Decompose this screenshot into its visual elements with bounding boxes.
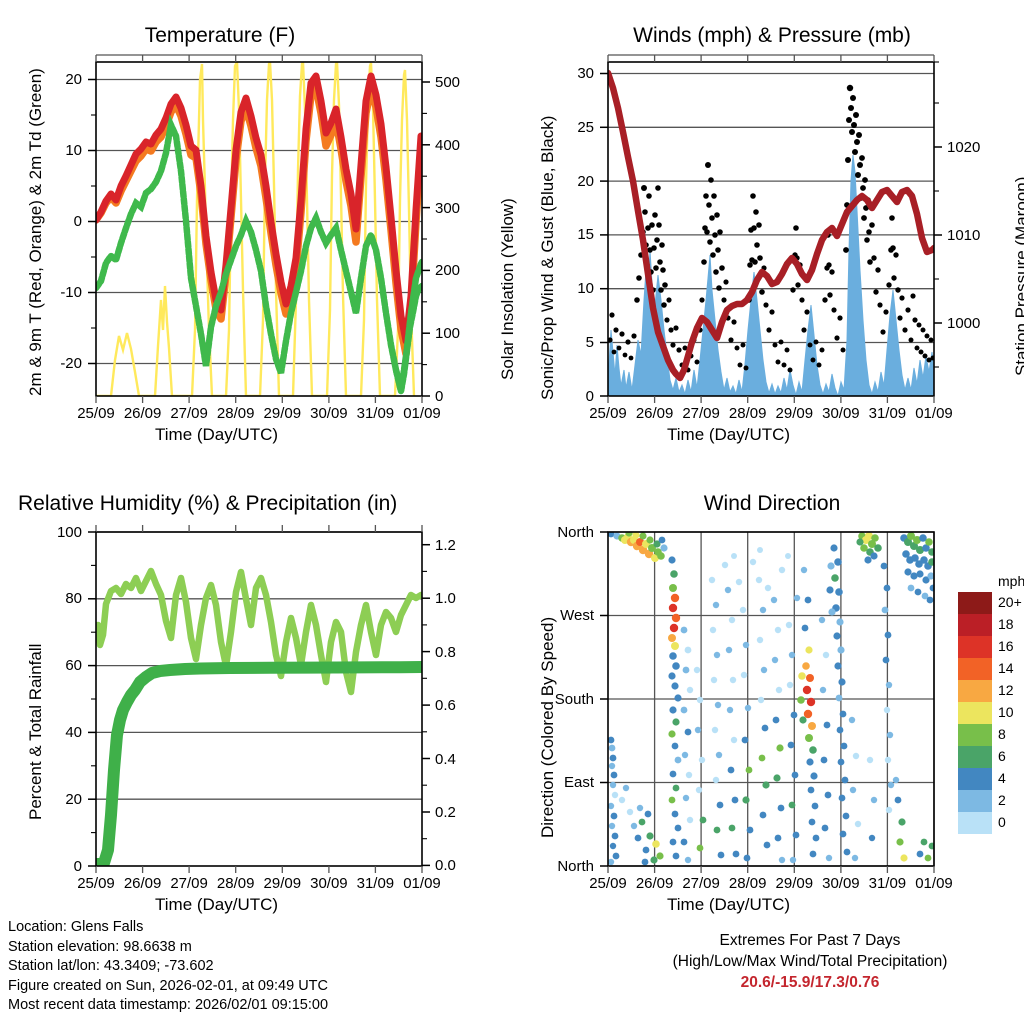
wind-direction-xtick: 01/09 bbox=[908, 875, 960, 892]
temperature-ytick-left: 0 bbox=[38, 213, 82, 230]
temperature-y-axis-left-label: 2m & 9m T (Red, Orange) & 2m Td (Green) bbox=[26, 68, 46, 396]
winds-ytick-right: 1010 bbox=[947, 227, 980, 244]
humidity-ytick-right: 1.2 bbox=[435, 537, 456, 554]
footer-latlon: Station lat/lon: 43.3409; -73.602 bbox=[8, 957, 328, 977]
winds-xtick: 31/09 bbox=[861, 405, 913, 422]
temperature-ytick-right: 400 bbox=[435, 137, 460, 154]
temperature-xtick: 25/09 bbox=[70, 405, 122, 422]
wind-direction-xtick: 31/09 bbox=[861, 875, 913, 892]
humidity-ytick-left: 40 bbox=[38, 724, 82, 741]
temperature-ytick-right: 300 bbox=[435, 200, 460, 217]
temperature-x-axis-label: Time (Day/UTC) bbox=[155, 425, 278, 445]
temperature-ytick-left: 10 bbox=[38, 142, 82, 159]
temperature-ytick-left: 20 bbox=[38, 71, 82, 88]
wind-direction-xtick: 28/09 bbox=[722, 875, 774, 892]
colorbar-tick: 0 bbox=[998, 814, 1006, 830]
humidity-x-axis-label: Time (Day/UTC) bbox=[155, 895, 278, 915]
footer-created: Figure created on Sun, 2026-02-01, at 09… bbox=[8, 977, 328, 997]
humidity-panel: Relative Humidity (%) & Precipitation (i… bbox=[0, 470, 512, 940]
humidity-xtick: 31/09 bbox=[349, 875, 401, 892]
winds-ytick-left: 10 bbox=[550, 280, 594, 297]
colorbar-tick: 2 bbox=[998, 792, 1006, 808]
colorbar-tick: 6 bbox=[998, 748, 1006, 764]
humidity-xtick: 29/09 bbox=[256, 875, 308, 892]
wind-direction-ytick: West bbox=[530, 607, 594, 624]
extremes-summary: Extremes For Past 7 Days (High/Low/Max W… bbox=[610, 930, 1010, 993]
winds-ytick-right: 1020 bbox=[947, 139, 980, 156]
humidity-ytick-left: 80 bbox=[38, 590, 82, 607]
winds-x-axis-label: Time (Day/UTC) bbox=[667, 425, 790, 445]
winds-panel: Winds (mph) & Pressure (mb) Sonic/Prop W… bbox=[512, 0, 1024, 460]
winds-xtick: 29/09 bbox=[768, 405, 820, 422]
wind-direction-ytick: North bbox=[530, 858, 594, 875]
wind-direction-y-axis-label: Direction (Colored By Speed) bbox=[538, 617, 558, 838]
footer-recent-timestamp: Most recent data timestamp: 2026/02/01 0… bbox=[8, 996, 328, 1016]
extremes-values: 20.6/-15.9/17.3/0.76 bbox=[610, 972, 1010, 993]
wind-direction-x-axis-label: Time (Day/UTC) bbox=[667, 895, 790, 915]
winds-xtick: 25/09 bbox=[582, 405, 634, 422]
wind-direction-xtick: 29/09 bbox=[768, 875, 820, 892]
colorbar-tick: 8 bbox=[998, 726, 1006, 742]
wind-direction-xtick: 30/09 bbox=[815, 875, 867, 892]
colorbar-tick: 10 bbox=[998, 704, 1014, 720]
colorbar-tick: 20+ bbox=[998, 594, 1022, 610]
humidity-ytick-right: 0.8 bbox=[435, 644, 456, 661]
humidity-xtick: 25/09 bbox=[70, 875, 122, 892]
temperature-xtick: 31/09 bbox=[349, 405, 401, 422]
humidity-ytick-right: 1.0 bbox=[435, 590, 456, 607]
colorbar-tick: 4 bbox=[998, 770, 1006, 786]
winds-ytick-left: 0 bbox=[550, 388, 594, 405]
humidity-xtick: 28/09 bbox=[210, 875, 262, 892]
humidity-xtick: 30/09 bbox=[303, 875, 355, 892]
humidity-xtick: 27/09 bbox=[163, 875, 215, 892]
winds-xtick: 27/09 bbox=[675, 405, 727, 422]
temperature-xtick: 28/09 bbox=[210, 405, 262, 422]
humidity-xtick: 01/09 bbox=[396, 875, 448, 892]
colorbar-tick: 18 bbox=[998, 616, 1014, 632]
temperature-ytick-right: 0 bbox=[435, 388, 443, 405]
station-metadata: Location: Glens Falls Station elevation:… bbox=[8, 918, 328, 1016]
winds-ytick-right: 1000 bbox=[947, 315, 980, 332]
wind-direction-ytick: East bbox=[530, 774, 594, 791]
wind-direction-xtick: 25/09 bbox=[582, 875, 634, 892]
humidity-ytick-left: 60 bbox=[38, 657, 82, 674]
winds-y-axis-right-label: Station Pressure (Maroon) bbox=[1012, 177, 1024, 376]
winds-ytick-left: 25 bbox=[550, 119, 594, 136]
winds-xtick: 26/09 bbox=[629, 405, 681, 422]
humidity-ytick-left: 100 bbox=[38, 524, 82, 541]
footer-elevation: Station elevation: 98.6638 m bbox=[8, 938, 328, 958]
humidity-xtick: 26/09 bbox=[117, 875, 169, 892]
wind-direction-ytick: South bbox=[530, 691, 594, 708]
temperature-xtick: 01/09 bbox=[396, 405, 448, 422]
wind-direction-xtick: 26/09 bbox=[629, 875, 681, 892]
temperature-xtick: 27/09 bbox=[163, 405, 215, 422]
humidity-ytick-right: 0.2 bbox=[435, 804, 456, 821]
footer-location: Location: Glens Falls bbox=[8, 918, 328, 938]
winds-xtick: 01/09 bbox=[908, 405, 960, 422]
wind-direction-panel-title: Wind Direction bbox=[582, 492, 962, 516]
winds-ytick-left: 15 bbox=[550, 226, 594, 243]
humidity-ytick-right: 0.6 bbox=[435, 697, 456, 714]
temperature-xtick: 30/09 bbox=[303, 405, 355, 422]
humidity-ytick-right: 0.0 bbox=[435, 857, 456, 874]
extremes-heading: Extremes For Past 7 Days bbox=[610, 930, 1010, 951]
wind-direction-panel: Wind Direction Direction (Colored By Spe… bbox=[512, 470, 1024, 940]
wind-speed-colorbar bbox=[958, 592, 992, 834]
colorbar-tick: 14 bbox=[998, 660, 1014, 676]
temperature-ytick-right: 200 bbox=[435, 262, 460, 279]
wind-direction-ytick: North bbox=[530, 524, 594, 541]
temperature-panel: Temperature (F) 2m & 9m T (Red, Orange) … bbox=[0, 0, 512, 460]
temperature-ytick-right: 100 bbox=[435, 325, 460, 342]
temperature-xtick: 26/09 bbox=[117, 405, 169, 422]
humidity-ytick-left: 20 bbox=[38, 791, 82, 808]
colorbar-tick: 12 bbox=[998, 682, 1014, 698]
temperature-ytick-left: -10 bbox=[38, 284, 82, 301]
temperature-xtick: 29/09 bbox=[256, 405, 308, 422]
humidity-panel-title: Relative Humidity (%) & Precipitation (i… bbox=[0, 492, 500, 516]
winds-panel-title: Winds (mph) & Pressure (mb) bbox=[582, 24, 962, 48]
winds-xtick: 28/09 bbox=[722, 405, 774, 422]
colorbar-unit-label: mph bbox=[998, 573, 1024, 589]
winds-y-axis-left-label: Sonic/Prop Wind & Gust (Blue, Black) bbox=[538, 116, 558, 400]
colorbar-tick: 16 bbox=[998, 638, 1014, 654]
wind-direction-xtick: 27/09 bbox=[675, 875, 727, 892]
humidity-ytick-left: 0 bbox=[38, 858, 82, 875]
winds-ytick-left: 30 bbox=[550, 65, 594, 82]
winds-xtick: 30/09 bbox=[815, 405, 867, 422]
humidity-ytick-right: 0.4 bbox=[435, 751, 456, 768]
winds-ytick-left: 5 bbox=[550, 334, 594, 351]
winds-ytick-left: 20 bbox=[550, 173, 594, 190]
extremes-subheading: (High/Low/Max Wind/Total Precipitation) bbox=[610, 951, 1010, 972]
temperature-ytick-right: 500 bbox=[435, 74, 460, 91]
temperature-panel-title: Temperature (F) bbox=[0, 24, 440, 48]
temperature-ytick-left: -20 bbox=[38, 355, 82, 372]
